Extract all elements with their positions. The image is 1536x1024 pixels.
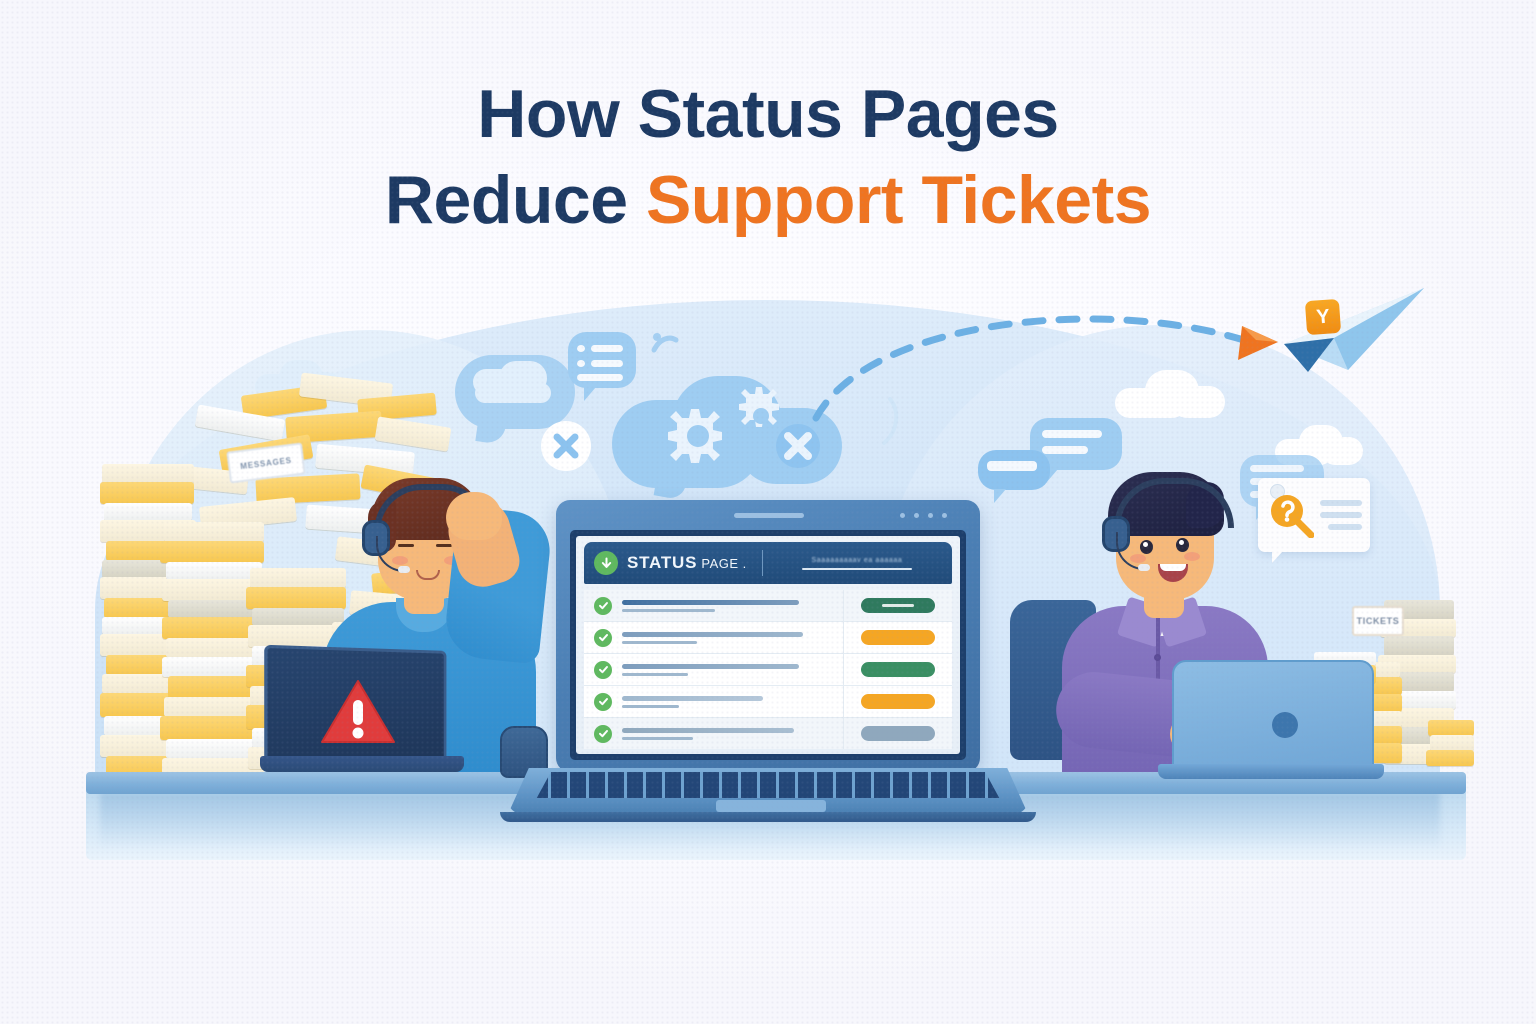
title-line-2: Reduce Support Tickets: [0, 164, 1536, 236]
status-page-service-list: [584, 590, 952, 750]
laptop-lid: [1172, 660, 1374, 772]
laptop-right: [1158, 660, 1388, 785]
cheek: [1184, 552, 1200, 561]
title-line-2-prefix: Reduce: [385, 162, 646, 238]
header-underline: [802, 568, 912, 570]
service-name: [622, 600, 843, 612]
paper-plane-icon: Y: [1278, 286, 1426, 376]
paper-plane-badge: Y: [1305, 299, 1341, 335]
status-cell: [843, 686, 952, 717]
status-badge: [861, 726, 935, 741]
status-badge: [861, 598, 935, 613]
download-circle-icon: [594, 551, 618, 575]
status-page-header: STATUS PAGE . Saaaaaaaaav ea aaaaaa: [584, 542, 952, 584]
faq-text-line: [1320, 500, 1362, 506]
laptop-base: [260, 756, 464, 772]
title-line-1: How Status Pages: [0, 78, 1536, 150]
header-placeholder-text: Saaaaaaaaav ea aaaaaa: [811, 557, 902, 564]
status-badge: [861, 662, 935, 677]
check-circle-icon: [594, 661, 612, 679]
faq-text-line: [1320, 512, 1362, 518]
page-title: How Status Pages Reduce Support Tickets: [0, 78, 1536, 236]
status-page-screen: STATUS PAGE . Saaaaaaaaav ea aaaaaa: [576, 536, 960, 754]
laptop-trackpad[interactable]: [716, 800, 826, 812]
mouth: [1158, 564, 1188, 582]
laptop-base: [1158, 764, 1384, 779]
table-row[interactable]: [584, 590, 952, 622]
faq-text-line: [1328, 524, 1362, 530]
laptop-with-alert: [268, 648, 464, 780]
gear-cloud-icon: [612, 372, 842, 512]
status-badge: [861, 630, 935, 645]
check-circle-icon: [594, 629, 612, 647]
service-name: [622, 728, 843, 740]
laptop-front-edge: [500, 812, 1036, 822]
eye: [1176, 538, 1189, 552]
status-badge: [861, 694, 935, 709]
laptop-logo: [1272, 712, 1298, 738]
table-row[interactable]: [584, 622, 952, 654]
headset-mic-tip: [398, 566, 410, 573]
status-cell: [843, 622, 952, 653]
status-cell: [843, 590, 952, 621]
table-row[interactable]: [584, 686, 952, 718]
laptop-status-page: STATUS PAGE . Saaaaaaaaav ea aaaaaa: [556, 500, 980, 820]
service-name: [622, 632, 843, 644]
illustration-canvas: How Status Pages Reduce Support Tickets: [0, 0, 1536, 1024]
eye-closed: [436, 544, 452, 547]
headset-mic-tip: [1138, 564, 1150, 571]
check-circle-icon: [594, 693, 612, 711]
title-line-2-highlight: Support Tickets: [646, 162, 1151, 238]
table-row[interactable]: [584, 654, 952, 686]
tickets-stack-label: TICKETS: [1352, 606, 1404, 636]
status-cell: [843, 718, 952, 749]
flow-arc-dashed: [810, 290, 1330, 430]
status-page-title-light: PAGE .: [697, 556, 747, 571]
service-name: [622, 664, 843, 676]
agent-left-hand: [446, 492, 502, 540]
laptop-keyboard[interactable]: [532, 772, 1004, 798]
gear-icon: [612, 372, 842, 512]
status-page-title-strong: STATUS: [627, 553, 697, 572]
status-cell: [843, 654, 952, 685]
header-divider: [762, 550, 763, 576]
mouth: [416, 570, 440, 580]
service-name: [622, 696, 843, 708]
x-mark-icon: [541, 421, 591, 471]
table-row[interactable]: [584, 718, 952, 749]
laptop-speaker-grill: [734, 513, 804, 518]
check-circle-icon: [594, 597, 612, 615]
warning-triangle-icon: [320, 678, 396, 746]
status-page-title: STATUS PAGE .: [627, 553, 747, 573]
status-page-header-meta: Saaaaaaaaav ea aaaaaa: [772, 557, 942, 570]
check-circle-icon: [594, 725, 612, 743]
laptop-lid: STATUS PAGE . Saaaaaaaaav ea aaaaaa: [556, 500, 980, 772]
sparkle-icon: [648, 328, 682, 360]
